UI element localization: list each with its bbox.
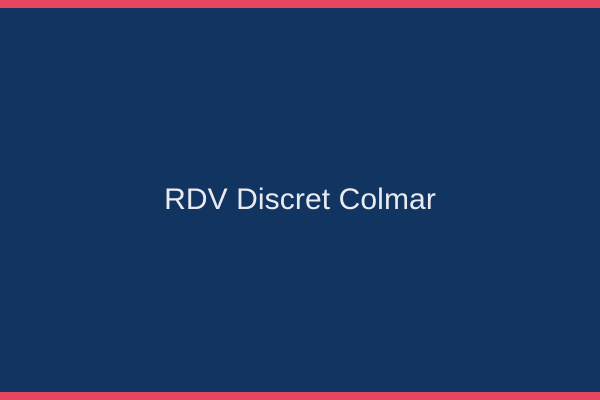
accent-bar-bottom <box>0 392 600 400</box>
banner-content-area: RDV Discret Colmar <box>0 8 600 392</box>
banner-card: RDV Discret Colmar <box>0 0 600 400</box>
accent-bar-top <box>0 0 600 8</box>
page-title: RDV Discret Colmar <box>164 182 436 218</box>
